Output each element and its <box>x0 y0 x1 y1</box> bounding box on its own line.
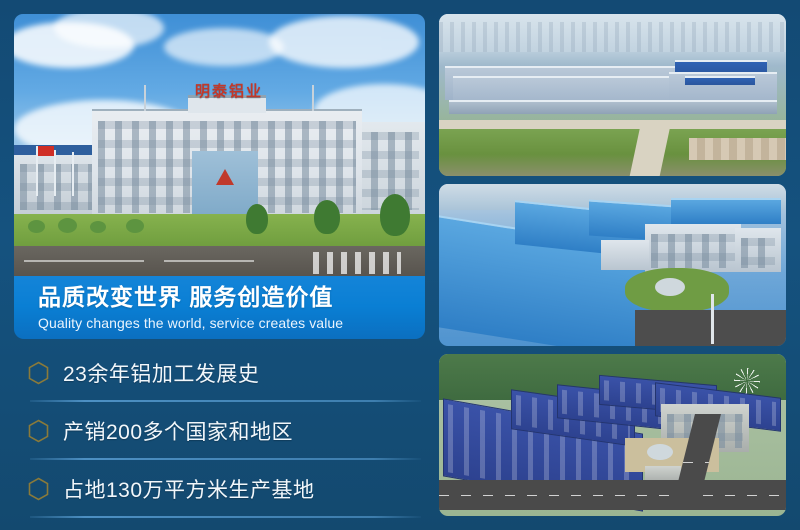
tree <box>314 200 340 234</box>
shrub <box>90 221 106 233</box>
storage-yard <box>689 138 786 160</box>
front-road <box>14 246 425 276</box>
right-gallery-column <box>439 14 786 516</box>
factory-facade <box>449 100 777 114</box>
slogan-chinese: 品质改变世界 服务创造价值 <box>38 282 425 312</box>
blue-roof <box>14 145 100 155</box>
feature-item-1[interactable]: 23余年铝加工发展史 <box>14 344 425 402</box>
workshop-roof <box>671 198 781 224</box>
crosswalk-marking <box>313 252 401 274</box>
office-building <box>735 228 781 272</box>
left-wing-building <box>14 154 100 214</box>
factory-3d-rendering-photo <box>439 354 786 516</box>
auxiliary-building <box>601 240 649 270</box>
shrub <box>28 220 45 233</box>
flagpole <box>72 152 74 196</box>
hexagon-icon <box>28 419 49 443</box>
feature-label: 占地130万平方米生产基地 <box>63 474 315 504</box>
slogan-banner: 品质改变世界 服务创造价值 Quality changes the world,… <box>14 276 425 339</box>
feature-item-2[interactable]: 产销200多个国家和地区 <box>14 402 425 460</box>
flagpole <box>54 150 56 196</box>
flagpole <box>711 294 714 344</box>
shrub <box>126 219 144 233</box>
perimeter-road <box>439 120 786 129</box>
roof-sign-text: 明泰铝业 <box>154 81 304 103</box>
window-grid <box>20 164 94 210</box>
feature-item-3[interactable]: 占地130万平方米生产基地 <box>14 460 425 518</box>
road-marking <box>164 260 254 262</box>
feature-list: 23余年铝加工发展史 产销200多个国家和地区 占地130万平方米生产基地 <box>14 344 425 518</box>
fountain <box>647 444 673 460</box>
window-grid <box>651 234 735 268</box>
cloud-decoration <box>164 28 284 66</box>
shrub <box>58 218 77 233</box>
feature-label: 23余年铝加工发展史 <box>63 358 259 388</box>
slogan-english: Quality changes the world, service creat… <box>38 313 425 333</box>
feature-label: 产销200多个国家和地区 <box>63 416 293 446</box>
row-divider <box>30 516 421 518</box>
sun-starburst-icon <box>734 368 760 394</box>
tree <box>380 194 410 236</box>
window-grid <box>741 238 775 268</box>
front-lawn <box>14 214 425 248</box>
hexagon-icon <box>28 361 49 385</box>
left-column: 明泰铝业 <box>14 14 425 516</box>
road-marking <box>24 260 144 262</box>
fountain <box>655 278 685 296</box>
antenna-mast <box>144 85 146 111</box>
factory-roof <box>685 76 755 85</box>
distant-city-blocks <box>439 22 786 52</box>
aerial-factory-wide-photo <box>439 14 786 176</box>
antenna-mast <box>312 85 314 111</box>
hexagon-icon <box>28 477 49 501</box>
cloud-decoration <box>269 16 419 68</box>
tree <box>246 204 268 234</box>
office-building <box>645 224 741 272</box>
main-road <box>439 480 786 510</box>
company-profile-banner: 明泰铝业 <box>0 0 800 530</box>
flag <box>38 146 54 156</box>
aerial-factory-courtyard-photo <box>439 184 786 346</box>
main-office-photo: 明泰铝业 <box>14 14 425 276</box>
